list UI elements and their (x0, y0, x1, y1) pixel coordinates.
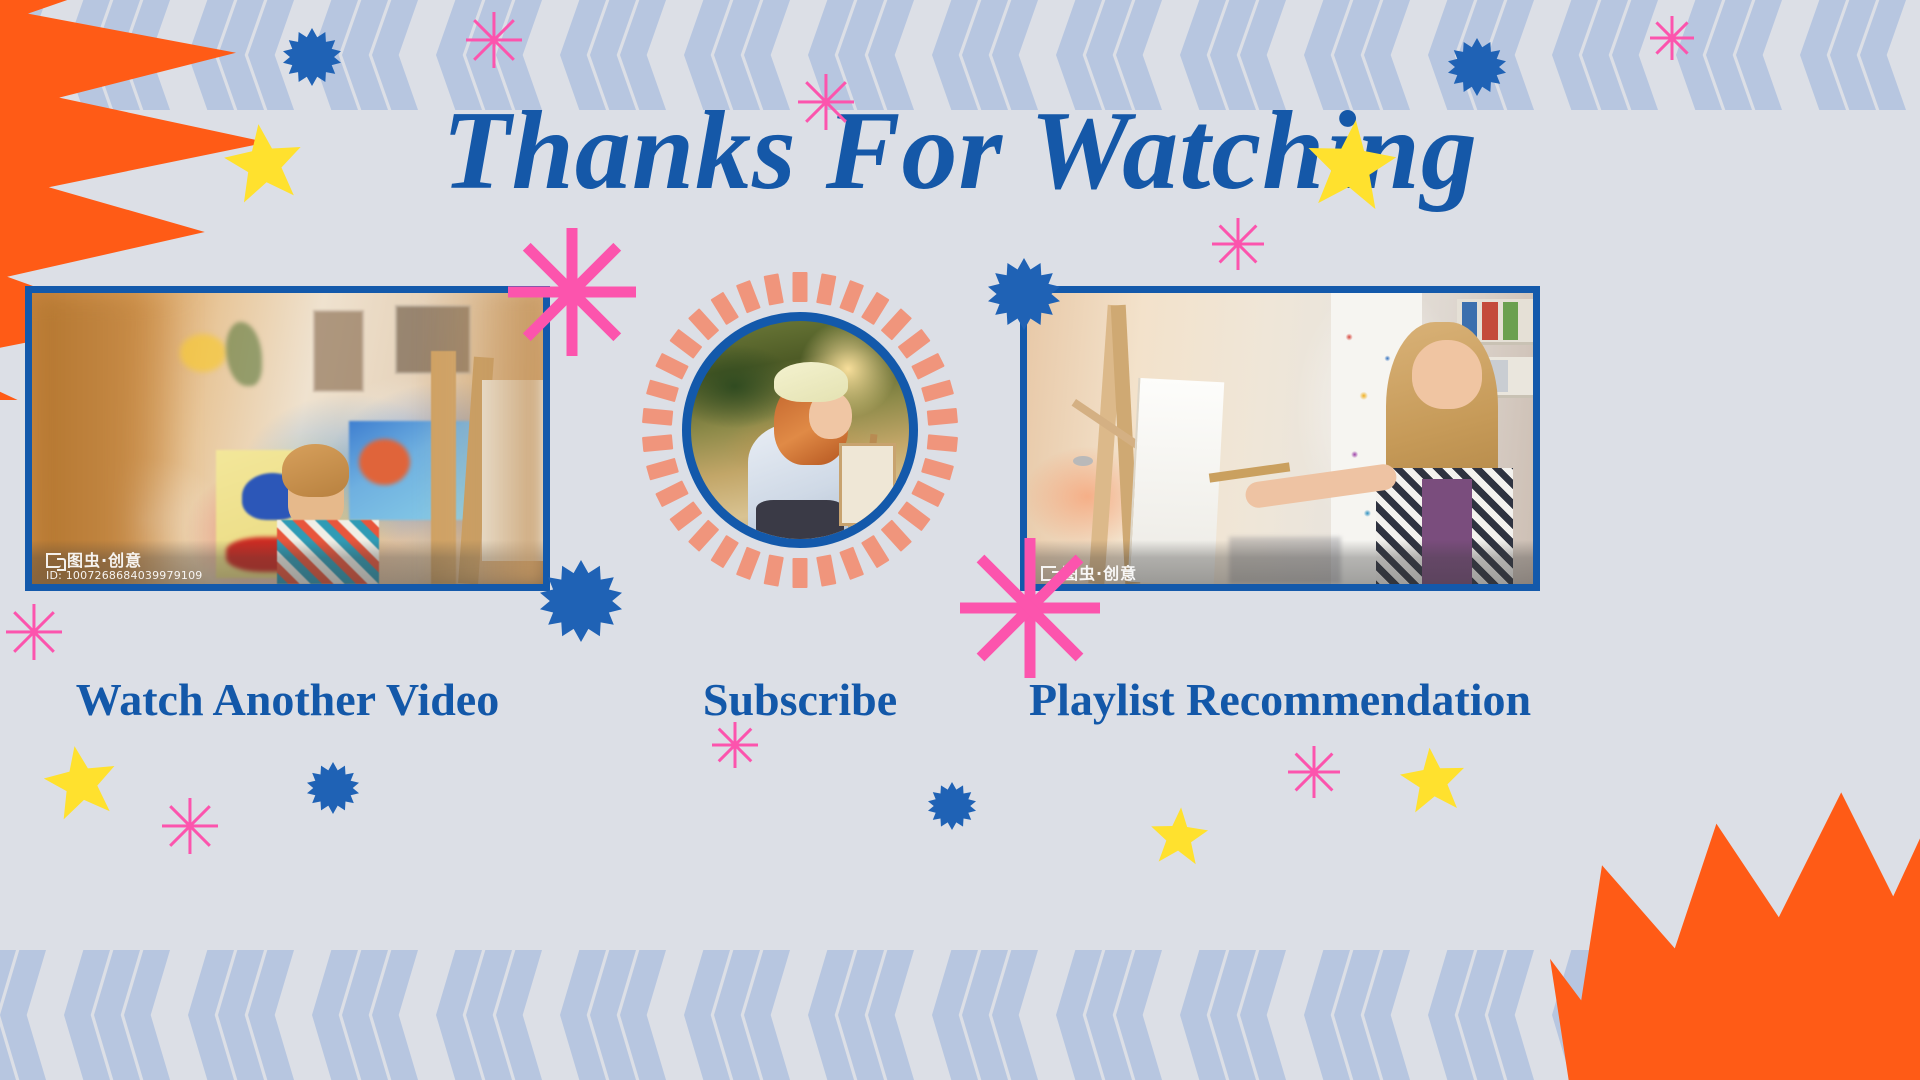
caption-playlist-recommendation[interactable]: Playlist Recommendation (1000, 673, 1560, 726)
coral-ray-icon (710, 535, 739, 568)
coral-ray-icon (688, 308, 719, 340)
coral-ray-icon (861, 535, 890, 568)
coral-ray-icon (927, 434, 958, 452)
coral-ray-icon (736, 547, 761, 580)
coral-ray-icon (911, 480, 945, 507)
watermark-bracket-icon (46, 553, 61, 568)
coral-ray-icon (764, 273, 784, 305)
yellow-star-icon (1146, 804, 1212, 870)
blue-starburst-icon (540, 560, 622, 642)
watermark-left: 图虫·创意 ID: 1007268684039979109 (32, 540, 543, 584)
watermark-logo: 图虫·创意 (46, 552, 543, 569)
coral-ray-icon (669, 501, 702, 531)
coral-ray-icon (839, 280, 864, 313)
coral-ray-icon (646, 458, 679, 481)
coral-ray-icon (927, 408, 958, 426)
yellow-star-icon (36, 738, 126, 828)
coral-ray-icon (861, 292, 890, 325)
blue-starburst-icon (307, 762, 359, 814)
pink-sparkle-icon (6, 604, 62, 660)
coral-ray-icon (655, 480, 689, 507)
coral-ray-icon (655, 353, 689, 380)
watermark-id-text: ID: 1007268684039979109 (46, 569, 543, 582)
pink-sparkle-icon (1288, 746, 1340, 798)
coral-ray-icon (764, 554, 784, 586)
coral-ray-icon (710, 292, 739, 325)
watermark-logo: 图虫·创意 (1041, 565, 1533, 582)
watermark-logo-text: 图虫·创意 (67, 552, 142, 569)
coral-ray-icon (816, 554, 836, 586)
blue-starburst-icon (928, 782, 976, 830)
pink-sparkle-large-icon (960, 538, 1100, 678)
thumbnail-image-center (682, 312, 918, 548)
coral-ray-icon (898, 501, 931, 531)
pink-sparkle-icon (1650, 16, 1694, 60)
coral-ray-icon (898, 329, 931, 359)
coral-ray-icon (646, 380, 679, 403)
pink-sparkle-icon (712, 722, 758, 768)
thumbnail-image-right: 图虫·创意 (1027, 293, 1533, 584)
coral-ray-icon (669, 329, 702, 359)
pink-sparkle-large-icon (508, 228, 636, 356)
coral-ray-icon (793, 272, 808, 302)
coral-ray-icon (921, 380, 954, 403)
coral-ray-icon (839, 547, 864, 580)
coral-ray-icon (911, 353, 945, 380)
pink-sparkle-icon (798, 74, 854, 130)
coral-ray-icon (642, 434, 673, 452)
end-screen-canvas: Thanks For Watching (0, 0, 1920, 1080)
coral-ray-icon (793, 558, 808, 588)
caption-subscribe[interactable]: Subscribe (620, 673, 980, 726)
pink-sparkle-icon (1212, 218, 1264, 270)
pink-sparkle-icon (466, 12, 522, 68)
thumbnail-image-left: 图虫·创意 ID: 1007268684039979109 (32, 293, 543, 584)
coral-ray-icon (736, 280, 761, 313)
watermark-right: 图虫·创意 (1027, 540, 1533, 584)
video-thumbnail-frame-left[interactable]: 图虫·创意 ID: 1007268684039979109 (25, 286, 550, 591)
pink-sparkle-icon (162, 798, 218, 854)
subscribe-media[interactable] (640, 270, 960, 590)
coral-ray-icon (881, 308, 912, 340)
coral-ray-icon (642, 408, 673, 426)
orange-burst-bottom-right-icon (1550, 730, 1920, 1080)
coral-ray-icon (921, 458, 954, 481)
caption-watch-another-video[interactable]: Watch Another Video (25, 673, 550, 726)
coral-ray-icon (816, 273, 836, 305)
coral-ray-icon (688, 520, 719, 552)
yellow-star-icon (1395, 743, 1472, 820)
